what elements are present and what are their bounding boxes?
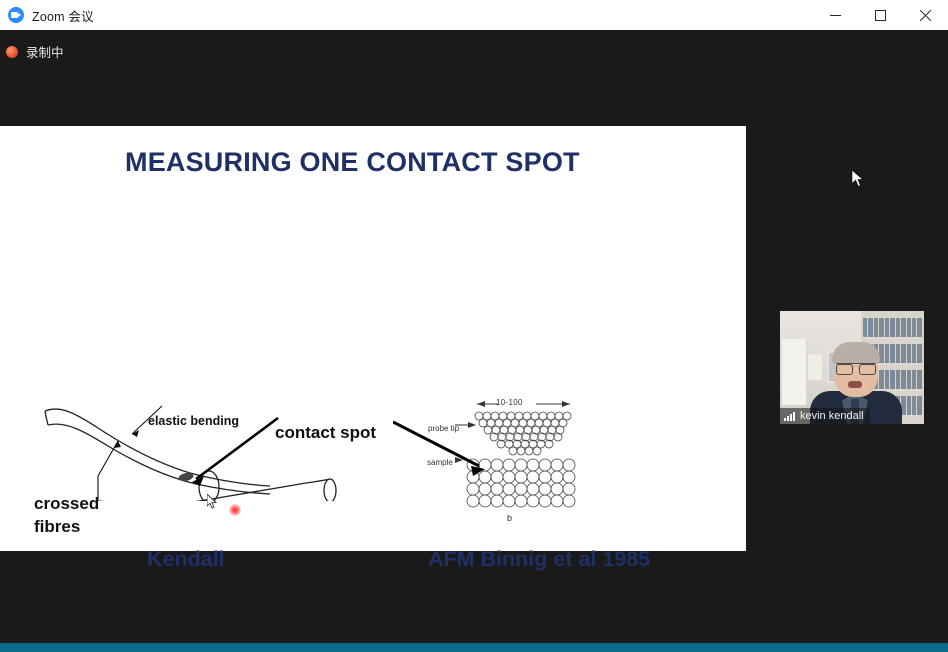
label-crossed-fibres-line1: crossed [34,494,99,513]
shared-slide: MEASURING ONE CONTACT SPOT [0,126,746,551]
participant-video-tile[interactable]: kevin kendall [780,311,924,424]
window-title-bar: Zoom 会议 [0,0,948,31]
participant-mouth [848,381,862,388]
label-crossed-fibres-line2: fibres [34,517,80,536]
label-crossed-fibres: crossed fibres [34,492,99,538]
window-controls [813,0,948,30]
afm-sample-label: sample [427,458,453,467]
maximize-icon[interactable] [858,0,903,30]
crossed-fibres-diagram [20,301,360,501]
recording-label: 录制中 [26,42,64,61]
laser-pointer-dot [229,504,241,516]
afm-dimension-label: 10-100 [496,398,523,407]
mouse-pointer-icon [851,169,865,189]
window-title: Zoom 会议 [32,6,94,25]
record-dot-icon [6,46,18,58]
close-icon[interactable] [903,0,948,30]
recording-indicator[interactable]: 录制中 [0,38,74,65]
zoom-icon [8,7,24,23]
caption-afm: AFM Binnig et al 1985 [428,547,650,572]
minimize-icon[interactable] [813,0,858,30]
meeting-view: 录制中 MEASURING ONE CONTACT SPOT [0,30,948,643]
label-elastic-bending: elastic bending [148,414,239,428]
zoom-bottom-toolbar-strip [0,643,948,652]
label-contact-spot: contact spot [275,423,376,443]
participant-hair [832,342,880,364]
video-background-small-frames [807,353,823,381]
afm-probe-tip-label: probe tip [428,424,459,433]
afm-figure-letter: b [507,513,512,523]
caption-kendall: Kendall [147,547,225,572]
video-background-door [782,339,807,405]
participant-name-bar: kevin kendall [780,408,870,424]
slide-title: MEASURING ONE CONTACT SPOT [125,147,580,178]
annotation-cursor-icon [207,494,219,510]
signal-bars-icon [784,412,795,421]
participant-glasses [836,363,876,373]
participant-name: kevin kendall [800,410,864,422]
